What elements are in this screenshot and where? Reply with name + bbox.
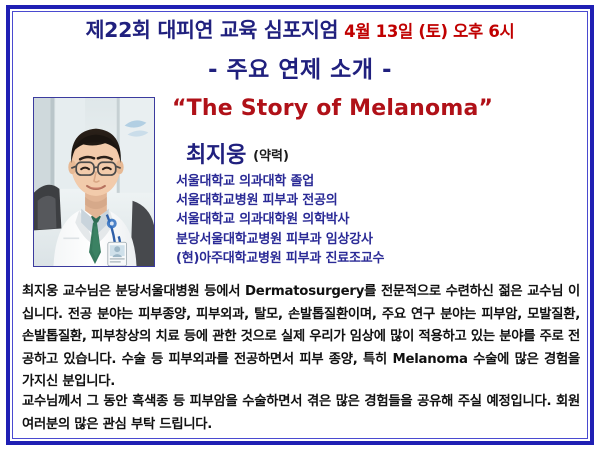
- talk-title: “The Story of Melanoma”: [172, 96, 582, 121]
- speaker-row: 최지웅(약력): [186, 137, 289, 169]
- body-paragraph-block-2: 교수님께서 그 동안 흑색종 등 피부암을 수술하면서 겪은 많은 경험들을 공…: [22, 391, 580, 436]
- speaker-name: 최지웅: [186, 143, 246, 168]
- speaker-cv-label: (약력): [253, 149, 289, 164]
- header-title-line: 제22회 대피연 교육 심포지엄4월 13일 (토) 오후 6시: [0, 13, 600, 43]
- header-subtitle: - 주요 연제 소개 -: [0, 50, 600, 84]
- body-paragraph-block-1: 최지웅 교수님은 분당서울대병원 등에서 Dermatosurgery를 전문적…: [22, 281, 580, 394]
- announcement-poster: 제22회 대피연 교육 심포지엄4월 13일 (토) 오후 6시 - 주요 연제…: [0, 0, 600, 453]
- cv-item: 서울대학교병원 피부과 전공의: [176, 191, 576, 210]
- cv-item: 서울대학교 의과대학원 의학박사: [176, 210, 576, 229]
- speaker-portrait-illustration: [34, 98, 154, 266]
- cv-item: 분당서울대학교병원 피부과 임상강사: [176, 230, 576, 249]
- speaker-photo: [33, 97, 155, 267]
- symposium-title: 제22회 대피연 교육 심포지엄: [86, 18, 339, 42]
- body-paragraph: 최지웅 교수님은 분당서울대병원 등에서 Dermatosurgery를 전문적…: [22, 281, 580, 394]
- cv-item: 서울대학교 의과대학 졸업: [176, 172, 576, 191]
- speaker-cv-list: 서울대학교 의과대학 졸업 서울대학교병원 피부과 전공의 서울대학교 의과대학…: [176, 172, 576, 268]
- body-paragraph: 교수님께서 그 동안 흑색종 등 피부암을 수술하면서 겪은 많은 경험들을 공…: [22, 391, 580, 436]
- cv-item: (현)아주대학교병원 피부과 진료조교수: [176, 249, 576, 268]
- symposium-datetime: 4월 13일 (토) 오후 6시: [344, 22, 514, 41]
